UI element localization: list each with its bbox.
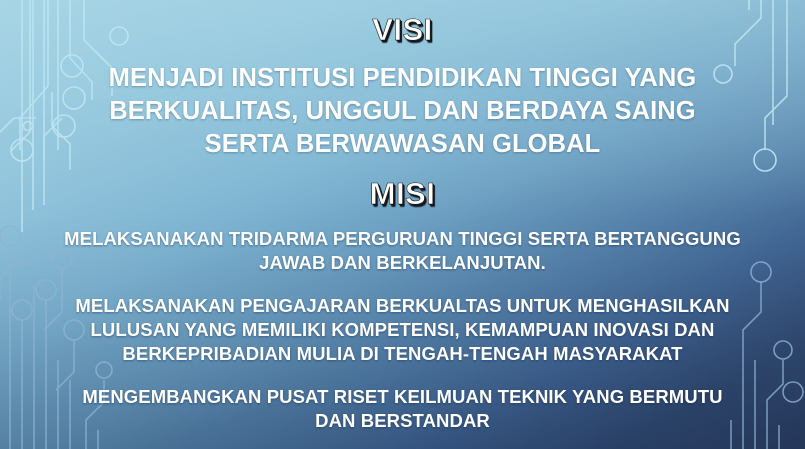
mission-item: MELAKSANAKAN PENGAJARAN BERKUALTAS UNTUK… (63, 294, 743, 366)
mission-heading: MISI (370, 178, 436, 209)
presentation-slide: VISI MENJADI INSTITUSI PENDIDIKAN TINGGI… (0, 0, 805, 449)
mission-list: MELAKSANAKAN TRIDARMA PERGURUAN TINGGI S… (63, 209, 743, 432)
vision-heading: VISI (372, 14, 433, 45)
vision-statement: MENJADI INSTITUSI PENDIDIKAN TINGGI YANG… (83, 62, 723, 161)
mission-item: MENGEMBANGKAN PUSAT RISET KEILMUAN TEKNI… (63, 385, 743, 433)
slide-content: VISI MENJADI INSTITUSI PENDIDIKAN TINGGI… (0, 0, 805, 449)
mission-item: MELAKSANAKAN TRIDARMA PERGURUAN TINGGI S… (63, 227, 743, 275)
